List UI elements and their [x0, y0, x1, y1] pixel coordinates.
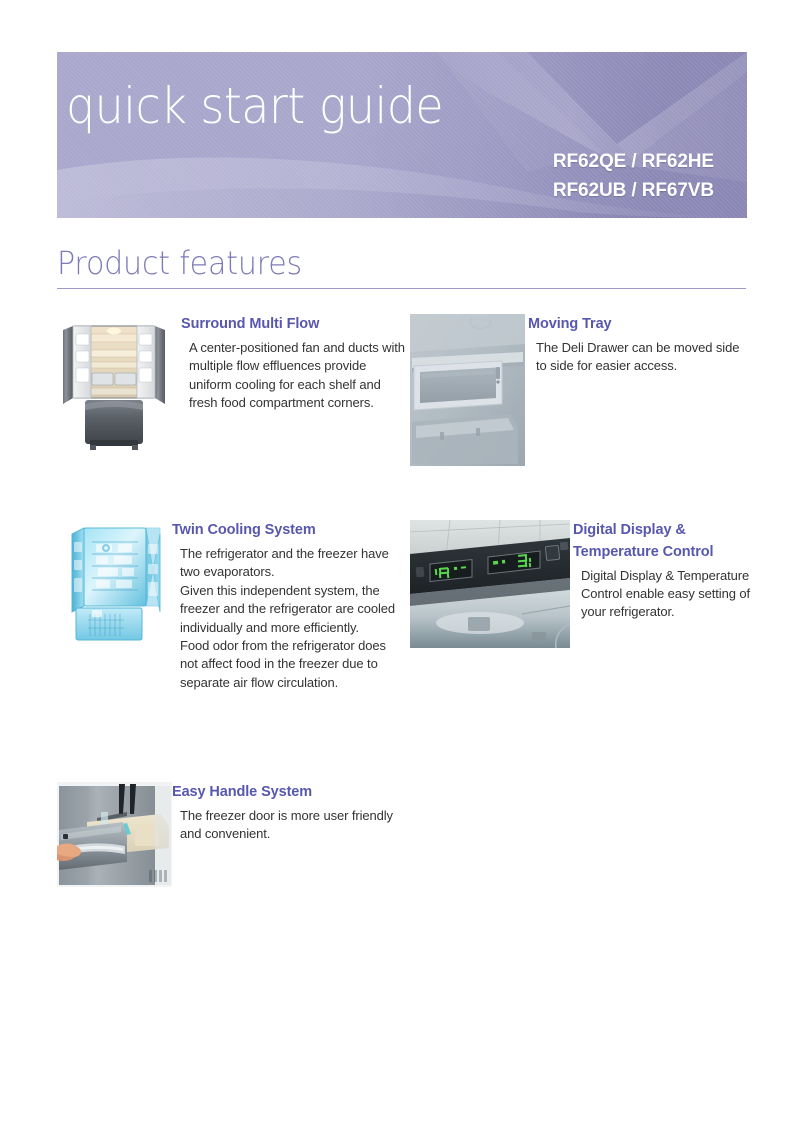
feature-heading: Easy Handle System [172, 782, 407, 804]
feature-body: Digital Display & Temperature Control en… [573, 567, 755, 622]
feature-text-block: Surround Multi Flow A center-positioned … [181, 314, 407, 413]
feature-heading: Surround Multi Flow [181, 314, 407, 336]
page-title: quick start guide [66, 81, 443, 131]
digital-display-control-panel-photo [410, 520, 570, 648]
feature-heading: Moving Tray [528, 314, 750, 336]
feature-heading: Twin Cooling System [172, 520, 407, 542]
feature-text-block: Digital Display & Temperature Control Di… [573, 520, 755, 622]
feature-body: The freezer door is more user friendly a… [172, 807, 407, 844]
feature-body: The refrigerator and the freezer have tw… [172, 545, 407, 693]
header-banner: quick start guide RF62QE / RF62HE RF62UB… [57, 52, 747, 218]
model-numbers-line-2: RF62UB / RF67VB [553, 177, 714, 206]
section-divider [57, 288, 746, 289]
deli-drawer-photo [410, 314, 525, 466]
xray-twin-cooling-refrigerator-illustration [62, 520, 172, 645]
model-numbers-line-1: RF62QE / RF62HE [553, 148, 714, 177]
model-numbers: RF62QE / RF62HE RF62UB / RF67VB [553, 148, 714, 206]
feature-body: A center-positioned fan and ducts with m… [181, 339, 407, 413]
feature-body: The Deli Drawer can be moved side to sid… [528, 339, 750, 376]
feature-text-block: Easy Handle System The freezer door is m… [172, 782, 407, 844]
easy-handle-freezer-drawer-photo [57, 782, 172, 887]
feature-text-block: Twin Cooling System The refrigerator and… [172, 520, 407, 692]
feature-text-block: Moving Tray The Deli Drawer can be moved… [528, 314, 750, 376]
french-door-refrigerator-open-photo [57, 314, 171, 454]
feature-heading: Digital Display & Temperature Control [573, 520, 755, 564]
section-title: Product features [57, 244, 302, 282]
